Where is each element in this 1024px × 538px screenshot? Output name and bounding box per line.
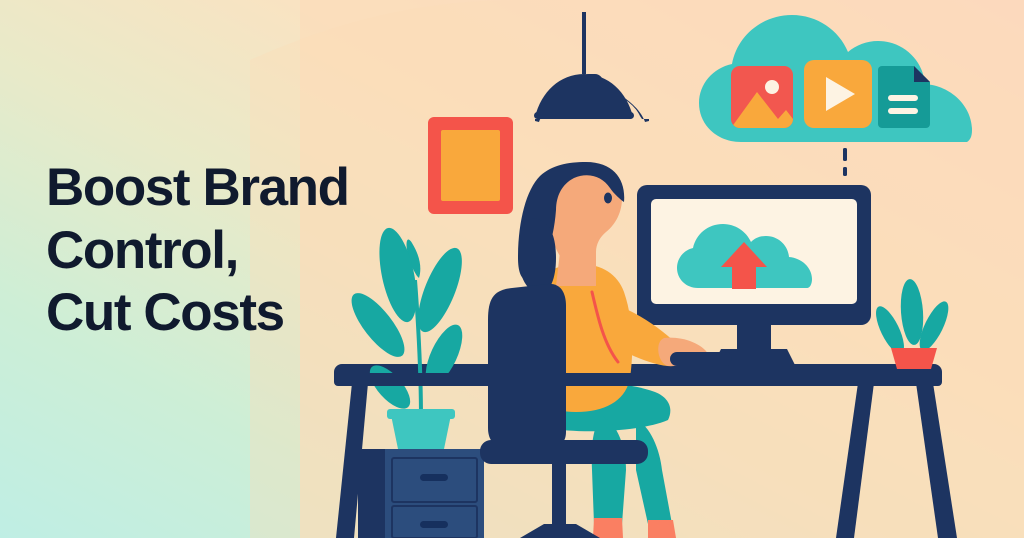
filing-cabinet-handle-top	[420, 474, 448, 481]
video-icon	[804, 60, 872, 128]
chair-seat	[480, 440, 648, 464]
computer-mouse	[670, 352, 732, 366]
filing-cabinet-side	[358, 449, 385, 538]
person-neck	[556, 252, 596, 286]
document-icon-line-1	[888, 95, 918, 101]
image-icon-sun	[765, 80, 779, 94]
pendant-lamp-rim	[534, 112, 634, 119]
pendant-lamp-cord	[582, 12, 586, 74]
filing-cabinet-handle-bottom	[420, 521, 448, 528]
image-icon	[731, 66, 793, 128]
chair-column	[552, 462, 566, 530]
plant-large-pot	[391, 415, 451, 449]
filing-cabinet	[358, 449, 484, 538]
illustration-canvas: Boost Brand Control, Cut Costs	[0, 0, 1024, 538]
person-foot-near	[593, 518, 623, 538]
page-title: Boost Brand Control, Cut Costs	[46, 157, 426, 345]
plant-small-pot	[891, 348, 937, 369]
wall-art-frame-mat	[441, 130, 500, 201]
computer-mouse-body	[670, 352, 732, 366]
desk-front-edge	[334, 373, 942, 386]
chair-backrest	[488, 284, 566, 448]
person-foot-far	[648, 520, 676, 538]
document-icon	[878, 66, 930, 128]
document-icon-line-2	[888, 108, 918, 114]
wall-art-frame	[428, 117, 513, 214]
person-eye	[604, 193, 612, 204]
plant-large-pot-rim	[387, 409, 455, 419]
